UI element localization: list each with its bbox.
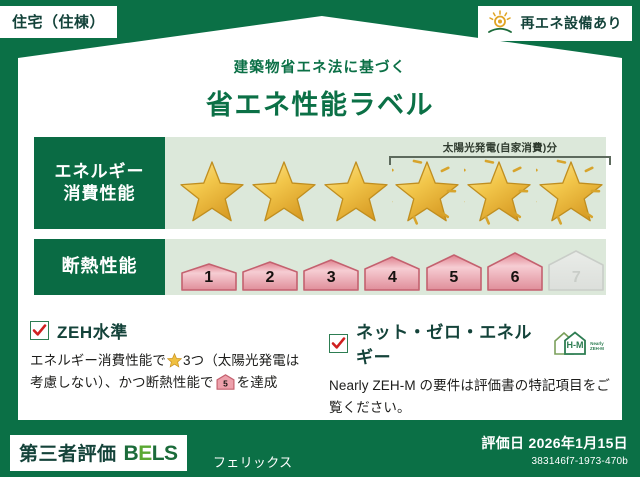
evaluation-date-label: 評価日 [481,435,524,451]
evaluator-name: フェリックス [213,452,292,471]
insulation-level-number: 2 [240,269,299,287]
insulation-level-number: 3 [302,269,361,287]
evaluation-id: 383146f7-1973-470b [481,456,628,467]
note-zeh-body-part3: を達成 [237,375,278,390]
svg-text:H-M: H-M [567,340,584,350]
insulation-level-2: 2 [240,260,299,292]
insulation-level-5: 5 [424,253,483,292]
renewable-energy-badge: 再エネ設備あり [478,6,633,41]
insulation-performance-key: 断熱性能 [34,239,165,295]
insulation-level-1: 1 [179,262,238,292]
evaluation-meta: 評価日 2026年1月15日 383146f7-1973-470b [481,433,628,467]
star-icon [251,159,317,223]
evaluation-date-value: 2026年1月15日 [528,435,628,451]
star-icon [166,353,183,368]
insulation-level-3: 3 [302,258,361,292]
star-icon [538,159,604,223]
star-5 [464,157,534,225]
insulation-level-number: 4 [363,269,422,287]
star-icon [394,159,460,223]
svg-text:ZEH-M: ZEH-M [590,346,604,351]
insulation-level-4: 4 [363,255,422,292]
energy-performance-value: 太陽光発電(自家消費)分 [165,137,606,229]
star-icon [323,159,389,223]
bels-chip: 第三者評価 BELS [10,435,187,471]
energy-performance-label: 住宅（住棟） 再エネ設備あり 建築物省エネ法に基づく 省エネ性能ラベル [0,0,640,477]
note-zeh-body-part1: エネルギー消費性能で [30,353,166,368]
page-title: 省エネ性能ラベル [0,83,640,122]
label-title-block: 建築物省エネ法に基づく 省エネ性能ラベル [0,56,640,122]
star-rating [165,157,606,225]
checkbox-checked-icon [30,321,49,340]
energy-performance-row: エネルギー 消費性能 太陽光発電(自家消費)分 [34,137,606,229]
energy-key-line2: 消費性能 [64,183,136,205]
insulation-badge-inline-icon: 5 [214,375,237,390]
note-net-zero-energy: ネット・ゼロ・エネルギー H-M Nearly ZEH-M Nearly ZEH… [329,318,610,419]
note-nze-title: ネット・ゼロ・エネルギー [356,318,544,368]
star-2 [249,157,319,225]
star-3 [321,157,391,225]
checkbox-checked-icon [329,334,348,353]
note-nze-header: ネット・ゼロ・エネルギー H-M Nearly ZEH-M [329,318,610,368]
star-1 [177,157,247,225]
svg-text:5: 5 [223,378,228,388]
insulation-level-7: 7 [547,249,606,292]
renewable-badge-label: 再エネ設備あり [521,13,623,33]
zeh-m-logo-icon: H-M Nearly ZEH-M [552,330,610,356]
star-6 [536,157,606,225]
note-nze-body: Nearly ZEH-M の要件は評価書の特記項目をご覧ください。 [329,375,610,419]
title-subtitle: 建築物省エネ法に基づく [0,56,640,77]
label-footer: 第三者評価 BELS フェリックス 評価日 2026年1月15日 383146f… [0,421,640,477]
insulation-level-6: 6 [485,251,544,292]
evaluation-date: 評価日 2026年1月15日 [481,433,628,453]
bels-jp-label: 第三者評価 [19,439,117,466]
insulation-performance-value: 1234567 [165,239,606,295]
insulation-level-number: 1 [179,269,238,287]
insulation-level-scale: 1234567 [165,249,606,292]
notes-section: ZEH水準 エネルギー消費性能で3つ（太陽光発電は考慮しない）、かつ断熱性能で5… [30,318,610,419]
note-zeh-standard: ZEH水準 エネルギー消費性能で3つ（太陽光発電は考慮しない）、かつ断熱性能で5… [30,318,311,419]
bels-logo: BELS [124,442,178,466]
insulation-level-number: 7 [547,269,606,287]
solar-bracket-label: 太陽光発電(自家消費)分 [389,140,611,155]
star-icon [179,159,245,223]
sun-icon [486,10,514,36]
energy-performance-key: エネルギー 消費性能 [34,137,165,229]
insulation-level-number: 5 [424,269,483,287]
note-zeh-header: ZEH水準 [30,318,311,343]
note-zeh-title: ZEH水準 [57,318,128,343]
energy-key-line1: エネルギー [55,161,145,183]
star-4 [392,157,462,225]
star-icon [466,159,532,223]
insulation-level-number: 6 [485,269,544,287]
insulation-performance-row: 断熱性能 1234567 [34,239,606,295]
note-zeh-body: エネルギー消費性能で3つ（太陽光発電は考慮しない）、かつ断熱性能で5を達成 [30,350,311,394]
housing-type-tag: 住宅（住棟） [0,6,117,38]
